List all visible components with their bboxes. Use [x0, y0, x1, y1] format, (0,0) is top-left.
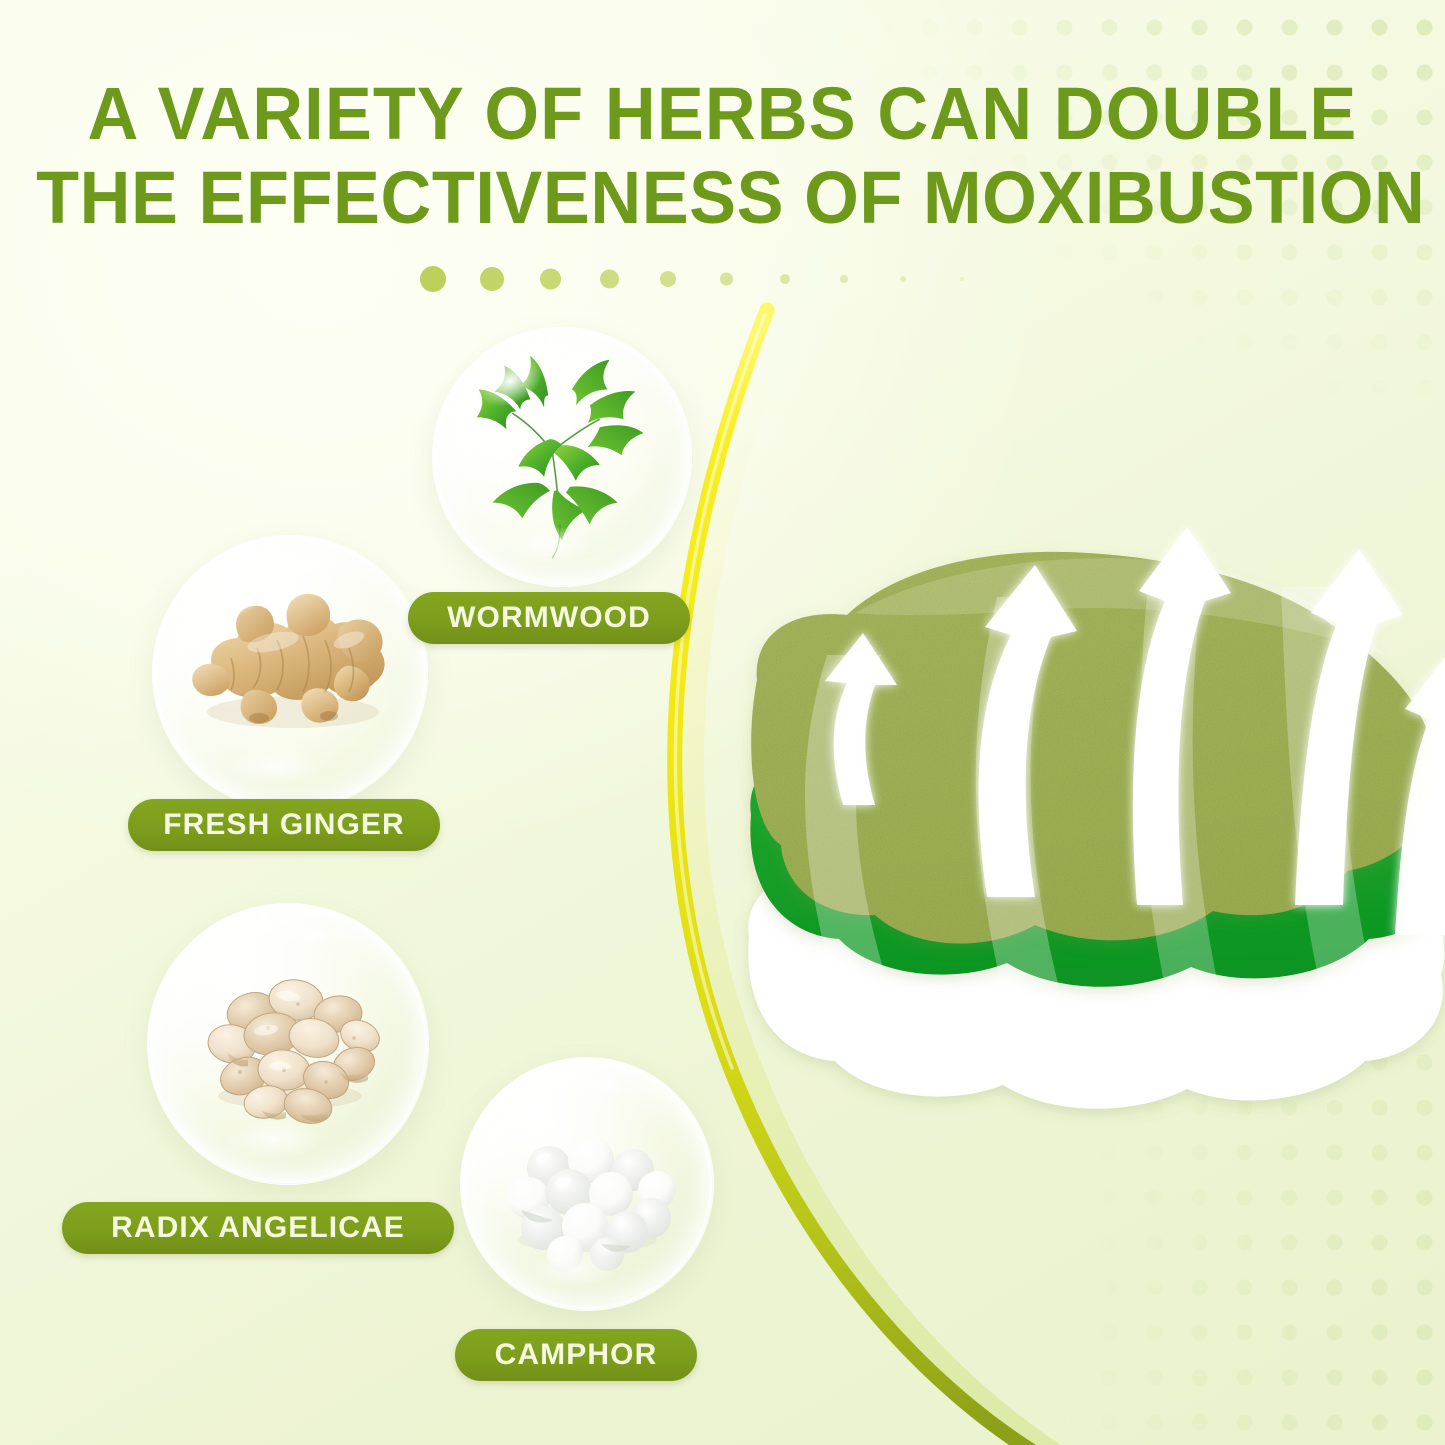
- decor-dot: [900, 276, 906, 282]
- headline-line-2: THE EFFECTIVENESS OF MOXIBUSTION: [36, 156, 1409, 240]
- bubble-highlight-secondary: [295, 555, 331, 577]
- bubble-bottom-reflection: [230, 747, 323, 785]
- ingredient-label-radix-angelicae[interactable]: RADIX ANGELICAE: [62, 1202, 454, 1254]
- ingredient-bubble-camphor[interactable]: [460, 1057, 714, 1311]
- page-title: A VARIETY OF HERBS CAN DOUBLE THE EFFECT…: [0, 72, 1445, 240]
- bubble-highlight-secondary: [294, 924, 330, 946]
- decor-dot: [600, 270, 619, 289]
- ingredient-label-fresh-ginger[interactable]: FRESH GINGER: [128, 799, 440, 851]
- decor-dot: [720, 273, 733, 286]
- ingredient-bubble-radix-angelicae[interactable]: [147, 903, 429, 1185]
- decor-dot: [960, 277, 964, 281]
- bubble-bottom-reflection: [505, 527, 593, 563]
- decor-dot: [780, 274, 790, 284]
- ingredient-bubble-fresh-ginger[interactable]: [152, 535, 428, 811]
- decor-dot: [480, 267, 504, 291]
- moxibustion-patch-cross-section: [735, 505, 1445, 1125]
- decor-dot: [420, 266, 446, 292]
- bubble-highlight-secondary: [592, 1076, 625, 1096]
- poster-canvas: A VARIETY OF HERBS CAN DOUBLE THE EFFECT…: [0, 0, 1445, 1445]
- bubble-bottom-reflection: [226, 1120, 321, 1159]
- decor-dot: [660, 271, 676, 287]
- ingredient-label-wormwood[interactable]: WORMWOOD: [408, 592, 690, 644]
- decor-dot: [540, 269, 561, 290]
- ingredient-bubble-wormwood[interactable]: [432, 327, 692, 587]
- bubble-highlight-secondary: [567, 346, 601, 367]
- ingredient-label-camphor[interactable]: CAMPHOR: [455, 1329, 697, 1381]
- fading-dot-row: [420, 262, 1020, 296]
- headline-line-1: A VARIETY OF HERBS CAN DOUBLE: [36, 72, 1409, 156]
- decor-dot: [840, 275, 848, 283]
